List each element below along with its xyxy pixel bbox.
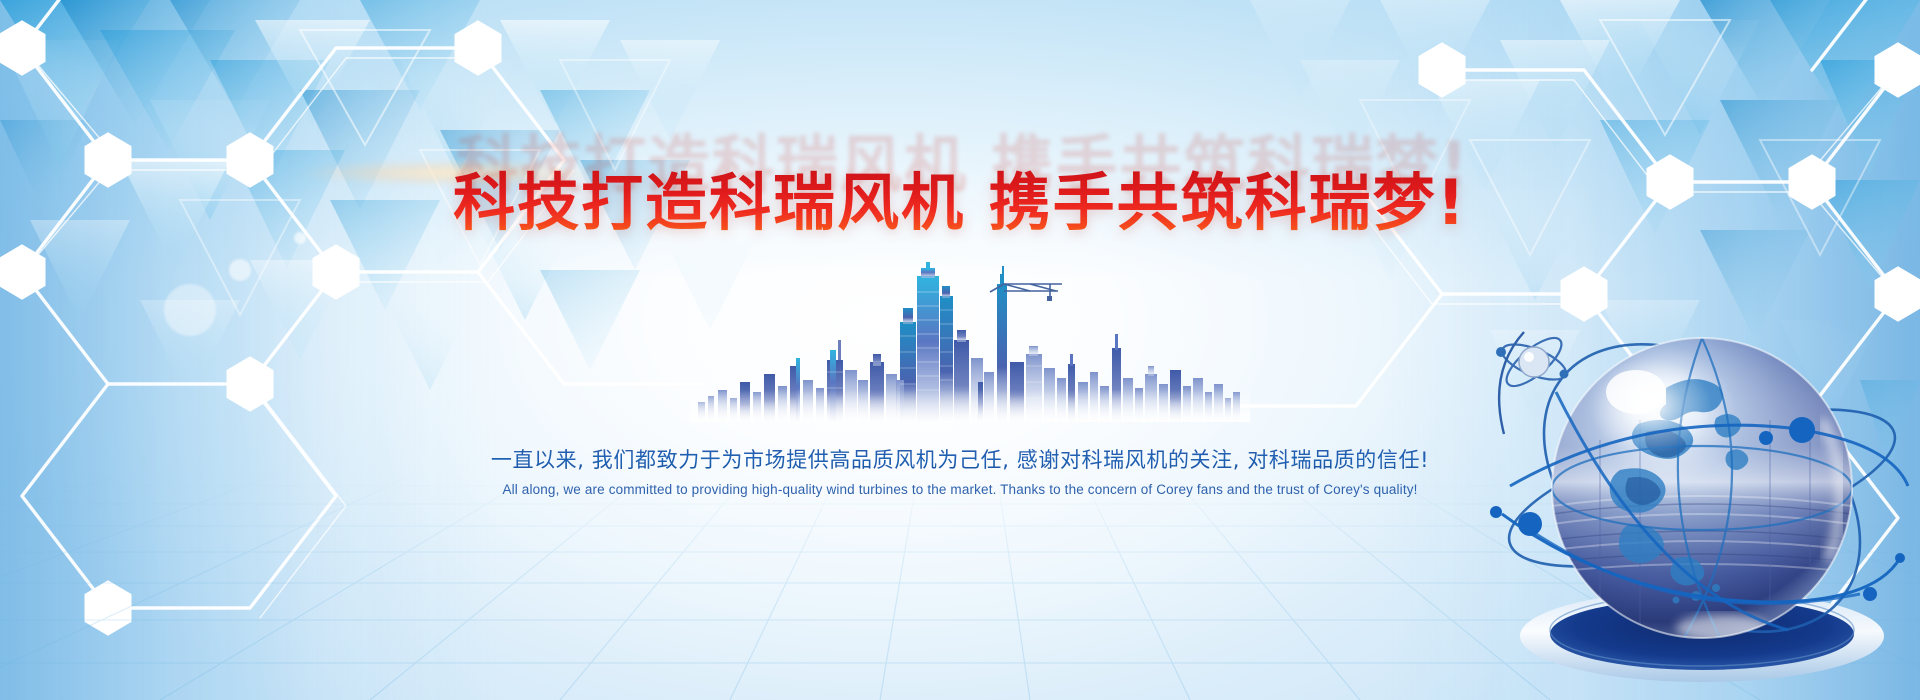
promotional-banner: 科技打造科瑞风机 携手共筑科瑞梦! 科技打造科瑞风机 携手共筑科瑞梦! 一直以来… (0, 0, 1920, 700)
city-skyline-icon (690, 262, 1250, 422)
banner-headline: 科技打造科瑞风机 携手共筑科瑞梦! (0, 170, 1920, 237)
glass-globe-icon (1470, 300, 1920, 700)
